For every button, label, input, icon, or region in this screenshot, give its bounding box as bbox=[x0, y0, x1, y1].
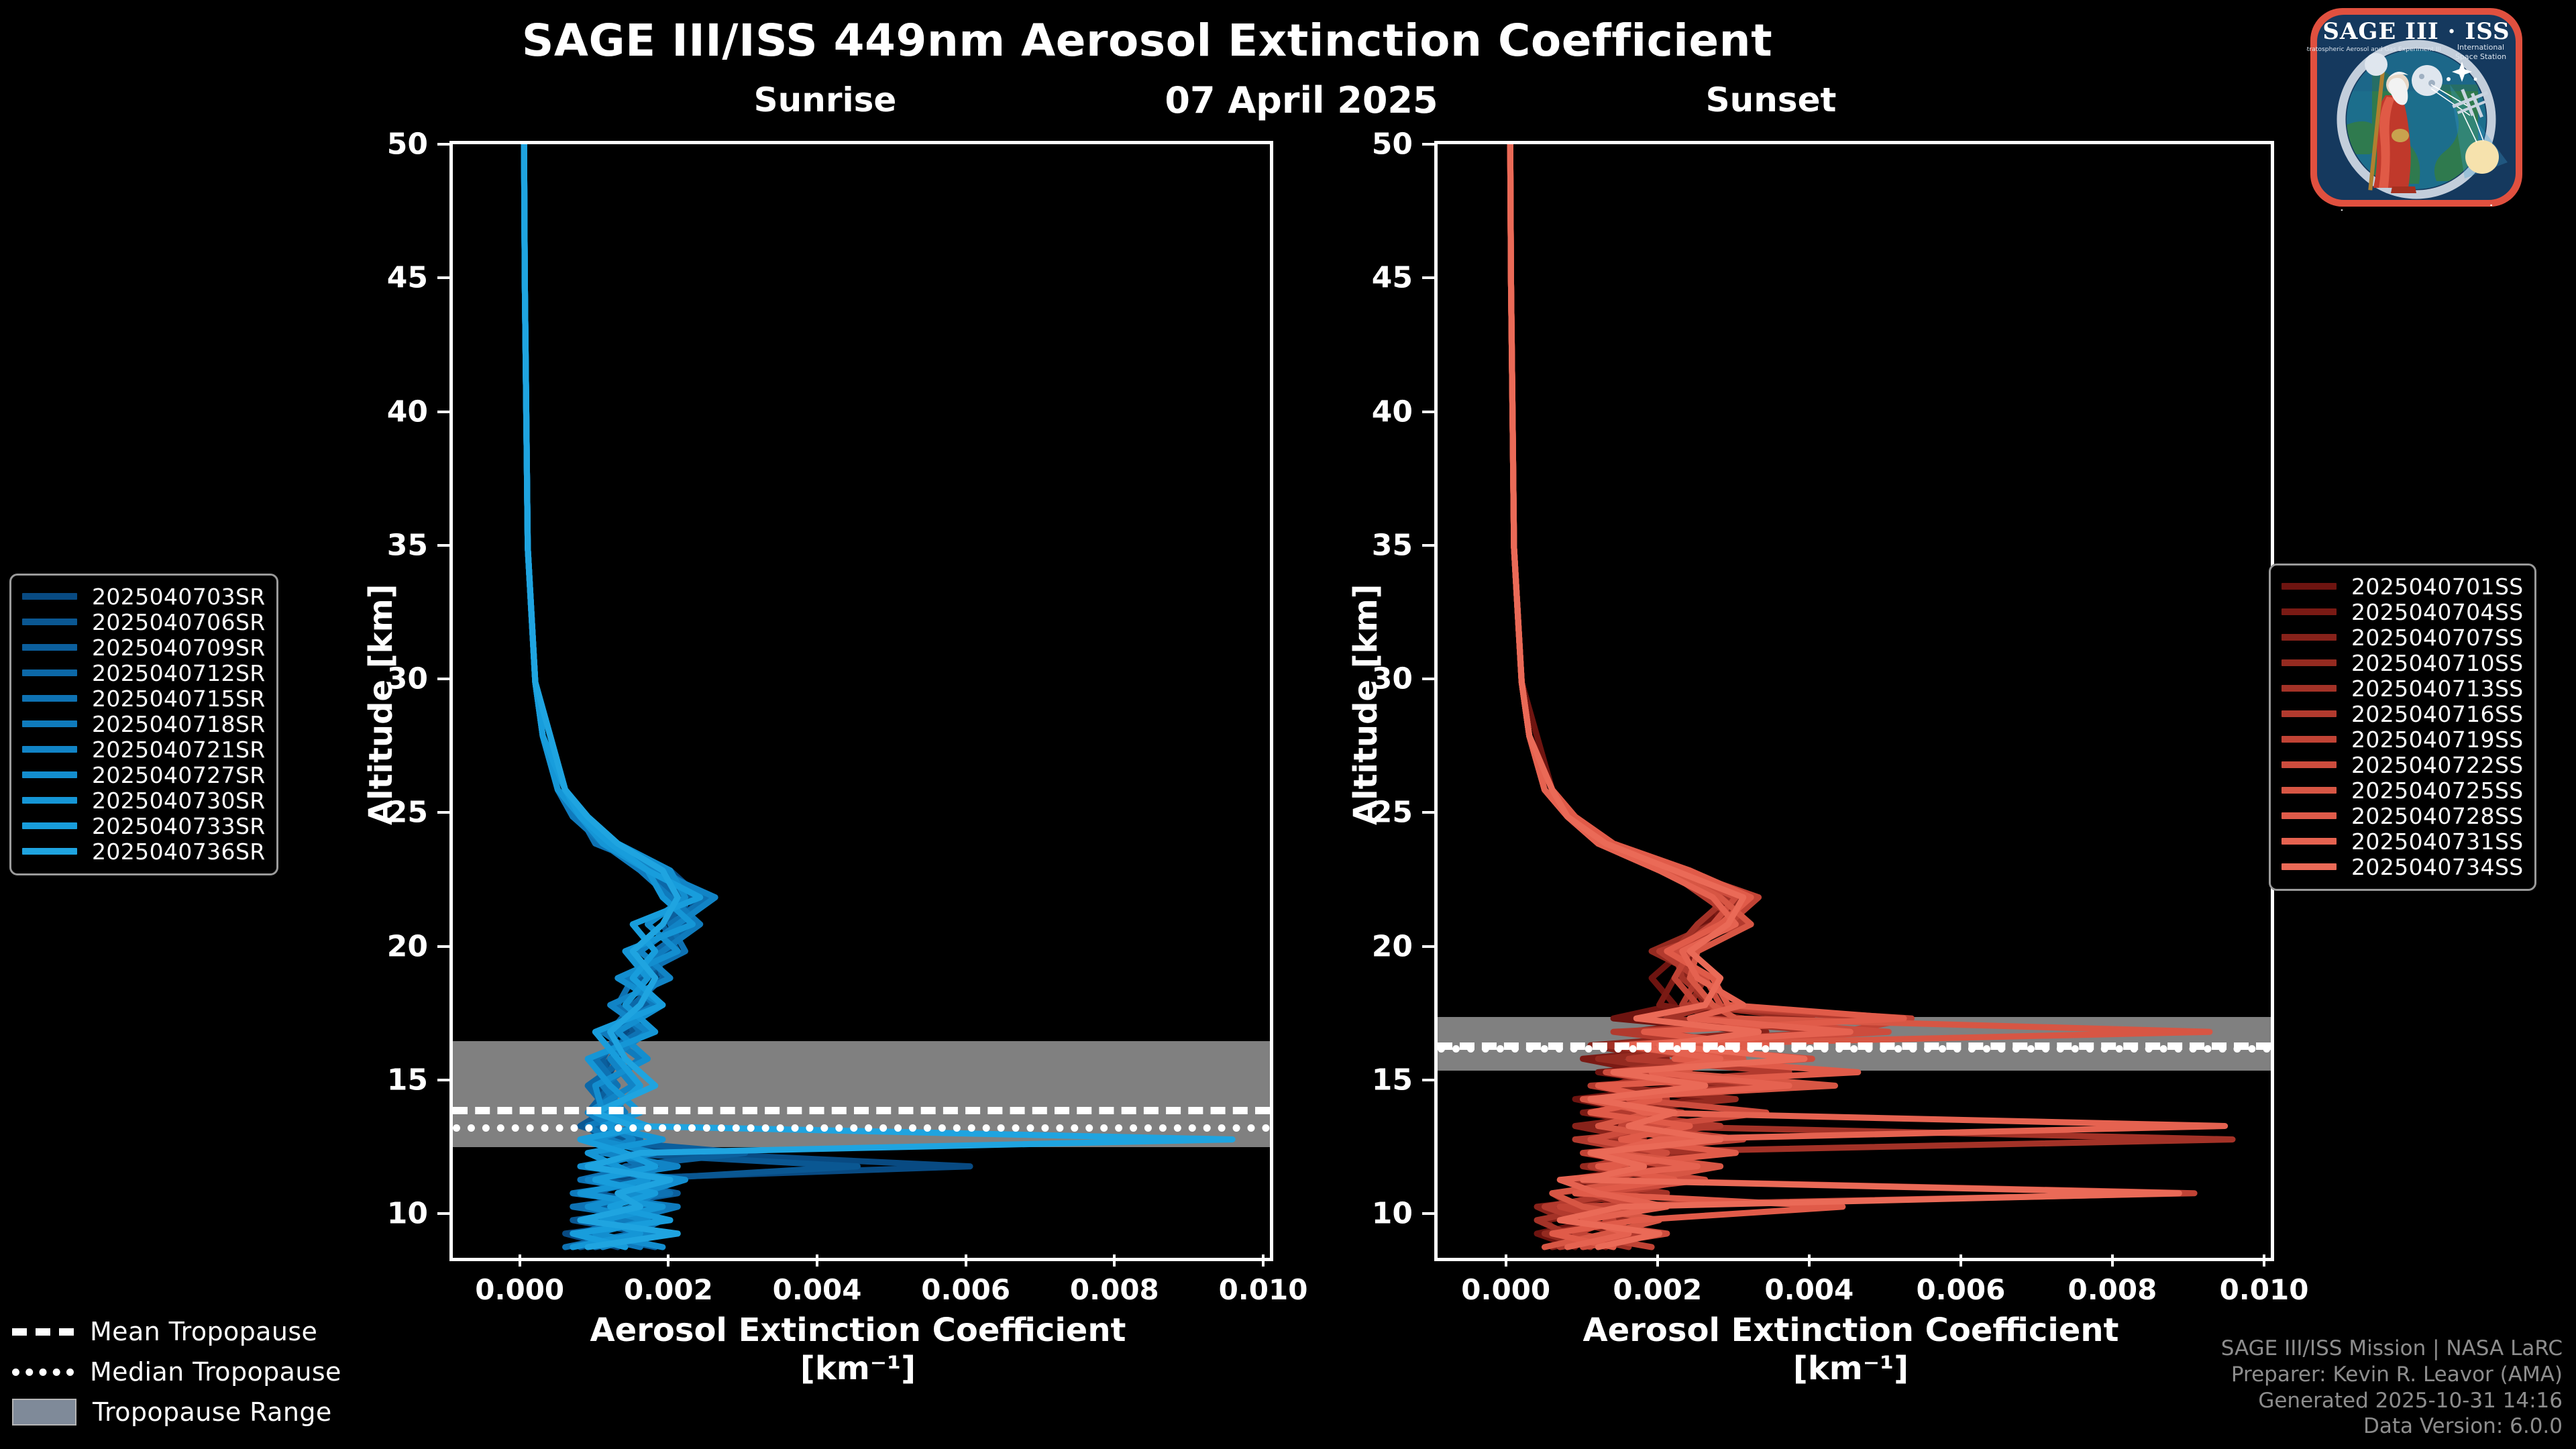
legend-label: 2025040716SS bbox=[2351, 701, 2524, 727]
legend-color-swatch bbox=[2282, 761, 2337, 768]
y-axis-tick bbox=[437, 143, 449, 146]
x-axis-tick bbox=[816, 1254, 818, 1267]
legend-color-swatch bbox=[22, 771, 77, 778]
legend-item[interactable]: 2025040704SS bbox=[2282, 599, 2524, 625]
x-axis-tick bbox=[1113, 1254, 1116, 1267]
dashed-line-icon bbox=[12, 1328, 74, 1336]
legend-label: 2025040713SS bbox=[2351, 676, 2524, 702]
legend-item[interactable]: 2025040731SS bbox=[2282, 828, 2524, 854]
x-axis-label-line1: Aerosol Extinction Coefficient bbox=[1583, 1311, 2119, 1349]
legend-color-swatch bbox=[22, 619, 77, 625]
legend-item[interactable]: 2025040713SS bbox=[2282, 676, 2524, 701]
x-axis-tick-label: 0.006 bbox=[1916, 1273, 2005, 1306]
sunrise-y-axis-label: Altitude [km] bbox=[362, 584, 400, 825]
legend-item[interactable]: 2025040706SR bbox=[22, 609, 266, 635]
y-axis-tick-label: 10 bbox=[1340, 1197, 1413, 1231]
patch-moon bbox=[2412, 65, 2443, 96]
x-axis-tick bbox=[1656, 1254, 1659, 1267]
legend-item[interactable]: 2025040734SS bbox=[2282, 854, 2524, 879]
legend-color-swatch bbox=[22, 669, 77, 676]
y-axis-tick bbox=[437, 811, 449, 814]
legend-item-median-tropopause[interactable]: Median Tropopause bbox=[12, 1352, 341, 1392]
legend-label-tropopause-range: Tropopause Range bbox=[93, 1397, 332, 1427]
y-axis-tick bbox=[1422, 1212, 1434, 1215]
dotted-line-icon bbox=[12, 1368, 74, 1376]
sunrise-title: Sunrise bbox=[637, 80, 1013, 119]
median-tropopause-line bbox=[1438, 1045, 2271, 1053]
legend-label: 2025040736SR bbox=[92, 839, 266, 865]
x-axis-tick bbox=[1262, 1254, 1265, 1267]
legend-item[interactable]: 2025040728SS bbox=[2282, 803, 2524, 828]
y-axis-tick-label: 15 bbox=[1340, 1063, 1413, 1097]
y-axis-tick bbox=[1422, 544, 1434, 547]
sunrise-plot-area bbox=[449, 141, 1273, 1261]
series-line bbox=[524, 144, 700, 1247]
legend-label: 2025040706SR bbox=[92, 609, 266, 635]
mean-tropopause-line bbox=[453, 1107, 1270, 1114]
legend-color-swatch bbox=[2282, 634, 2337, 641]
y-axis-tick bbox=[1422, 276, 1434, 279]
sunset-plot-area bbox=[1434, 141, 2274, 1261]
legend-label-median-tropopause: Median Tropopause bbox=[90, 1357, 341, 1387]
legend-label: 2025040733SR bbox=[92, 813, 266, 839]
legend-color-swatch bbox=[22, 822, 77, 829]
y-axis-tick bbox=[437, 678, 449, 680]
legend-label: 2025040725SS bbox=[2351, 777, 2524, 804]
legend-label: 2025040701SS bbox=[2351, 574, 2524, 600]
profile-curves bbox=[1438, 144, 2271, 1258]
x-axis-tick-label: 0.004 bbox=[1764, 1273, 1854, 1306]
tropopause-legend: Mean Tropopause Median Tropopause Tropop… bbox=[12, 1311, 341, 1432]
legend-color-swatch bbox=[22, 720, 77, 727]
legend-label: 2025040710SS bbox=[2351, 650, 2524, 676]
legend-label: 2025040730SR bbox=[92, 788, 266, 814]
y-axis-tick-label: 20 bbox=[1340, 929, 1413, 963]
x-axis-label-line1: Aerosol Extinction Coefficient bbox=[590, 1311, 1126, 1349]
x-axis-tick-label: 0.000 bbox=[1461, 1273, 1550, 1306]
legend-color-swatch bbox=[2282, 608, 2337, 615]
legend-label: 2025040709SR bbox=[92, 635, 266, 661]
median-tropopause-line bbox=[453, 1124, 1270, 1132]
sunrise-series-legend[interactable]: 2025040703SR2025040706SR2025040709SR2025… bbox=[9, 574, 278, 875]
legend-color-swatch bbox=[2282, 736, 2337, 743]
legend-label: 2025040715SR bbox=[92, 686, 266, 712]
legend-label: 2025040734SS bbox=[2351, 854, 2524, 880]
y-axis-tick-label: 40 bbox=[356, 394, 428, 429]
legend-label: 2025040727SR bbox=[92, 762, 266, 788]
x-axis-tick bbox=[2263, 1254, 2265, 1267]
legend-color-swatch bbox=[22, 848, 77, 855]
page-title: SAGE III/ISS 449nm Aerosol Extinction Co… bbox=[0, 15, 2294, 66]
legend-item[interactable]: 2025040707SS bbox=[2282, 625, 2524, 650]
legend-color-swatch bbox=[22, 746, 77, 753]
legend-label: 2025040712SR bbox=[92, 660, 266, 686]
legend-item[interactable]: 2025040719SS bbox=[2282, 727, 2524, 752]
y-axis-tick bbox=[1422, 143, 1434, 146]
legend-item[interactable]: 2025040736SR bbox=[22, 839, 266, 864]
series-line bbox=[1510, 144, 1904, 1247]
footer-line-version: Data Version: 6.0.0 bbox=[2221, 1413, 2563, 1440]
legend-color-swatch bbox=[2282, 863, 2337, 870]
y-axis-tick bbox=[1422, 811, 1434, 814]
legend-color-swatch bbox=[2282, 787, 2337, 794]
x-axis-tick bbox=[1808, 1254, 1811, 1267]
series-line bbox=[524, 144, 692, 1247]
y-axis-tick bbox=[437, 945, 449, 948]
y-axis-tick bbox=[1422, 1079, 1434, 1081]
x-axis-tick-label: 0.010 bbox=[1219, 1273, 1308, 1306]
legend-label-mean-tropopause: Mean Tropopause bbox=[90, 1317, 317, 1346]
series-line bbox=[524, 144, 708, 1247]
legend-item[interactable]: 2025040727SR bbox=[22, 762, 266, 788]
y-axis-tick bbox=[1422, 411, 1434, 413]
sage-iii-iss-mission-patch: SAGE III · ISS Stratospheric Aerosol and… bbox=[2306, 4, 2526, 211]
y-axis-tick bbox=[437, 544, 449, 547]
series-line bbox=[524, 144, 857, 1247]
legend-item[interactable]: 2025040722SS bbox=[2282, 752, 2524, 777]
legend-label: 2025040731SS bbox=[2351, 828, 2524, 855]
legend-item-tropopause-range[interactable]: Tropopause Range bbox=[12, 1392, 341, 1432]
y-axis-tick-label: 45 bbox=[356, 261, 428, 295]
footer-attribution: SAGE III/ISS Mission | NASA LaRC Prepare… bbox=[2221, 1336, 2563, 1440]
legend-item[interactable]: 2025040718SR bbox=[22, 711, 266, 737]
legend-label: 2025040704SS bbox=[2351, 599, 2524, 625]
legend-label: 2025040728SS bbox=[2351, 803, 2524, 829]
y-axis-tick bbox=[437, 276, 449, 279]
y-axis-tick-label: 45 bbox=[1340, 261, 1413, 295]
y-axis-tick-label: 50 bbox=[356, 127, 428, 162]
legend-color-swatch bbox=[2282, 583, 2337, 590]
legend-item[interactable]: 2025040710SS bbox=[2282, 650, 2524, 676]
legend-color-swatch bbox=[2282, 838, 2337, 845]
legend-label: 2025040707SS bbox=[2351, 625, 2524, 651]
patch-subtitle-right-1: International bbox=[2457, 43, 2504, 52]
date-title: 07 April 2025 bbox=[1087, 79, 1516, 121]
x-axis-tick bbox=[1960, 1254, 1962, 1267]
x-axis-tick bbox=[2111, 1254, 2114, 1267]
y-axis-tick-label: 20 bbox=[356, 929, 428, 963]
legend-color-swatch bbox=[22, 797, 77, 804]
sunset-title: Sunset bbox=[1583, 80, 1959, 119]
x-axis-tick-label: 0.010 bbox=[2220, 1273, 2309, 1306]
profile-curves bbox=[453, 144, 1270, 1258]
legend-item-mean-tropopause[interactable]: Mean Tropopause bbox=[12, 1311, 341, 1352]
legend-label: 2025040718SR bbox=[92, 711, 266, 737]
y-axis-tick-label: 50 bbox=[1340, 127, 1413, 162]
sunset-x-axis-label: Aerosol Extinction Coefficient [km⁻¹] bbox=[1434, 1311, 2267, 1387]
y-axis-tick bbox=[1422, 945, 1434, 948]
series-line bbox=[524, 144, 715, 1247]
patch-sun bbox=[2465, 140, 2499, 174]
x-axis-tick-label: 0.006 bbox=[921, 1273, 1010, 1306]
legend-item[interactable]: 2025040716SS bbox=[2282, 701, 2524, 727]
x-axis-tick bbox=[1505, 1254, 1507, 1267]
legend-color-swatch bbox=[22, 644, 77, 651]
legend-label: 2025040721SR bbox=[92, 737, 266, 763]
legend-item[interactable]: 2025040712SR bbox=[22, 660, 266, 686]
footer-line-generated: Generated 2025-10-31 14:16 bbox=[2221, 1388, 2563, 1414]
legend-color-swatch bbox=[2282, 685, 2337, 692]
filled-band-icon bbox=[12, 1399, 76, 1426]
sunset-y-axis-label: Altitude [km] bbox=[1347, 584, 1385, 825]
y-axis-tick-label: 40 bbox=[1340, 394, 1413, 429]
x-axis-label-line2: [km⁻¹] bbox=[800, 1350, 916, 1387]
legend-item[interactable]: 2025040721SR bbox=[22, 737, 266, 762]
legend-item[interactable]: 2025040715SR bbox=[22, 686, 266, 711]
y-axis-tick bbox=[437, 1079, 449, 1081]
sunrise-x-axis-label: Aerosol Extinction Coefficient [km⁻¹] bbox=[449, 1311, 1267, 1387]
legend-color-swatch bbox=[2282, 710, 2337, 717]
footer-line-mission: SAGE III/ISS Mission | NASA LaRC bbox=[2221, 1336, 2563, 1362]
legend-item[interactable]: 2025040725SS bbox=[2282, 777, 2524, 803]
x-axis-tick-label: 0.000 bbox=[475, 1273, 564, 1306]
legend-label: 2025040703SR bbox=[92, 584, 266, 610]
x-axis-tick bbox=[519, 1254, 521, 1267]
y-axis-tick-label: 15 bbox=[356, 1063, 428, 1097]
x-axis-tick-label: 0.002 bbox=[1613, 1273, 1702, 1306]
y-axis-tick-label: 35 bbox=[356, 528, 428, 562]
legend-color-swatch bbox=[22, 593, 77, 600]
legend-color-swatch bbox=[22, 695, 77, 702]
legend-color-swatch bbox=[2282, 659, 2337, 666]
legend-item[interactable]: 2025040730SR bbox=[22, 788, 266, 813]
legend-item[interactable]: 2025040703SR bbox=[22, 584, 266, 609]
legend-item[interactable]: 2025040709SR bbox=[22, 635, 266, 660]
y-axis-tick bbox=[437, 411, 449, 413]
patch-subtitle-right-2: Space Station bbox=[2455, 52, 2506, 61]
x-axis-tick-label: 0.004 bbox=[773, 1273, 862, 1306]
sunset-series-legend[interactable]: 2025040701SS2025040704SS2025040707SS2025… bbox=[2269, 563, 2536, 891]
legend-item[interactable]: 2025040701SS bbox=[2282, 574, 2524, 599]
y-axis-tick bbox=[1422, 678, 1434, 680]
y-axis-tick bbox=[437, 1212, 449, 1215]
legend-color-swatch bbox=[2282, 812, 2337, 819]
patch-title: SAGE III · ISS bbox=[2322, 18, 2510, 45]
legend-label: 2025040722SS bbox=[2351, 752, 2524, 778]
legend-item[interactable]: 2025040733SR bbox=[22, 813, 266, 839]
footer-line-preparer: Preparer: Kevin R. Leavor (AMA) bbox=[2221, 1362, 2563, 1388]
y-axis-tick-label: 10 bbox=[356, 1197, 428, 1231]
patch-subtitle-left: Stratospheric Aerosol and Gas Experiment… bbox=[2306, 46, 2441, 53]
x-axis-tick bbox=[667, 1254, 669, 1267]
x-axis-tick-label: 0.002 bbox=[624, 1273, 713, 1306]
y-axis-tick-label: 35 bbox=[1340, 528, 1413, 562]
x-axis-tick-label: 0.008 bbox=[2068, 1273, 2157, 1306]
x-axis-label-line2: [km⁻¹] bbox=[1793, 1350, 1909, 1387]
x-axis-tick-label: 0.008 bbox=[1070, 1273, 1159, 1306]
legend-label: 2025040719SS bbox=[2351, 727, 2524, 753]
x-axis-tick bbox=[965, 1254, 967, 1267]
